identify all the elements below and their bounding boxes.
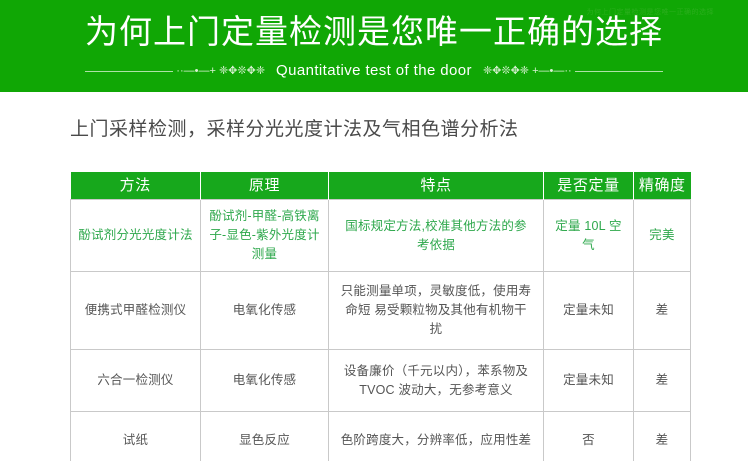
page-root: 为何上门定量检测是您唯一正确的选择 为何上门定量检测是您唯一正确的选择 ··—•… bbox=[0, 0, 748, 461]
section-heading: 上门采样检测，采样分光光度计法及气相色谱分析法 bbox=[70, 117, 519, 143]
cell-features: 只能测量单项，灵敏度低，使用寿命短 易受颗粒物及其他有机物干扰 bbox=[329, 272, 544, 350]
page-title: 为何上门定量检测是您唯一正确的选择 bbox=[0, 12, 748, 52]
cell-quantitative: 否 bbox=[544, 412, 634, 461]
cell-principle: 电氧化传感 bbox=[201, 272, 329, 350]
table-header-row: 方法 原理 特点 是否定量 精确度 bbox=[71, 172, 691, 200]
cell-accuracy: 差 bbox=[634, 272, 691, 350]
cell-method: 酚试剂分光光度计法 bbox=[71, 200, 201, 272]
column-header-quantitative: 是否定量 bbox=[544, 172, 634, 200]
cell-method: 六合一检测仪 bbox=[71, 350, 201, 412]
cell-quantitative: 定量 10L 空气 bbox=[544, 200, 634, 272]
column-header-method: 方法 bbox=[71, 172, 201, 200]
cell-principle: 电氧化传感 bbox=[201, 350, 329, 412]
cell-features: 色阶跨度大，分辨率低，应用性差 bbox=[329, 412, 544, 461]
table-row: 试纸 显色反应 色阶跨度大，分辨率低，应用性差 否 差 bbox=[71, 412, 691, 461]
banner-subtitle: Quantitative test of the door bbox=[268, 62, 480, 80]
cell-accuracy: 差 bbox=[634, 350, 691, 412]
cell-principle: 显色反应 bbox=[201, 412, 329, 461]
comparison-table: 方法 原理 特点 是否定量 精确度 酚试剂分光光度计法 酚试剂-甲醛-高铁离子-… bbox=[70, 172, 691, 461]
cell-method: 便携式甲醛检测仪 bbox=[71, 272, 201, 350]
cell-accuracy: 完美 bbox=[634, 200, 691, 272]
banner-subtitle-row: ··—•—+ ❈✥❊✥❈ Quantitative test of the do… bbox=[0, 62, 748, 80]
table-row: 酚试剂分光光度计法 酚试剂-甲醛-高铁离子-显色-紫外光度计测量 国标规定方法,… bbox=[71, 200, 691, 272]
cell-quantitative: 定量未知 bbox=[544, 350, 634, 412]
cell-method: 试纸 bbox=[71, 412, 201, 461]
column-header-accuracy: 精确度 bbox=[634, 172, 691, 200]
divider-line-left bbox=[85, 71, 173, 72]
cell-features: 设备廉价（千元以内），苯系物及 TVOC 波动大，无参考意义 bbox=[329, 350, 544, 412]
column-header-principle: 原理 bbox=[201, 172, 329, 200]
header-banner: 为何上门定量检测是您唯一正确的选择 为何上门定量检测是您唯一正确的选择 ··—•… bbox=[0, 0, 748, 92]
ornament-right-icon: ❈✥❊✥❈ +—•—·· bbox=[480, 66, 575, 77]
column-header-features: 特点 bbox=[329, 172, 544, 200]
table-row: 六合一检测仪 电氧化传感 设备廉价（千元以内），苯系物及 TVOC 波动大，无参… bbox=[71, 350, 691, 412]
cell-quantitative: 定量未知 bbox=[544, 272, 634, 350]
ornament-left-icon: ··—•—+ ❈✥❊✥❈ bbox=[173, 66, 268, 77]
cell-features: 国标规定方法,校准其他方法的参考依据 bbox=[329, 200, 544, 272]
cell-accuracy: 差 bbox=[634, 412, 691, 461]
cell-principle: 酚试剂-甲醛-高铁离子-显色-紫外光度计测量 bbox=[201, 200, 329, 272]
table-row: 便携式甲醛检测仪 电氧化传感 只能测量单项，灵敏度低，使用寿命短 易受颗粒物及其… bbox=[71, 272, 691, 350]
divider-line-right bbox=[575, 71, 663, 72]
